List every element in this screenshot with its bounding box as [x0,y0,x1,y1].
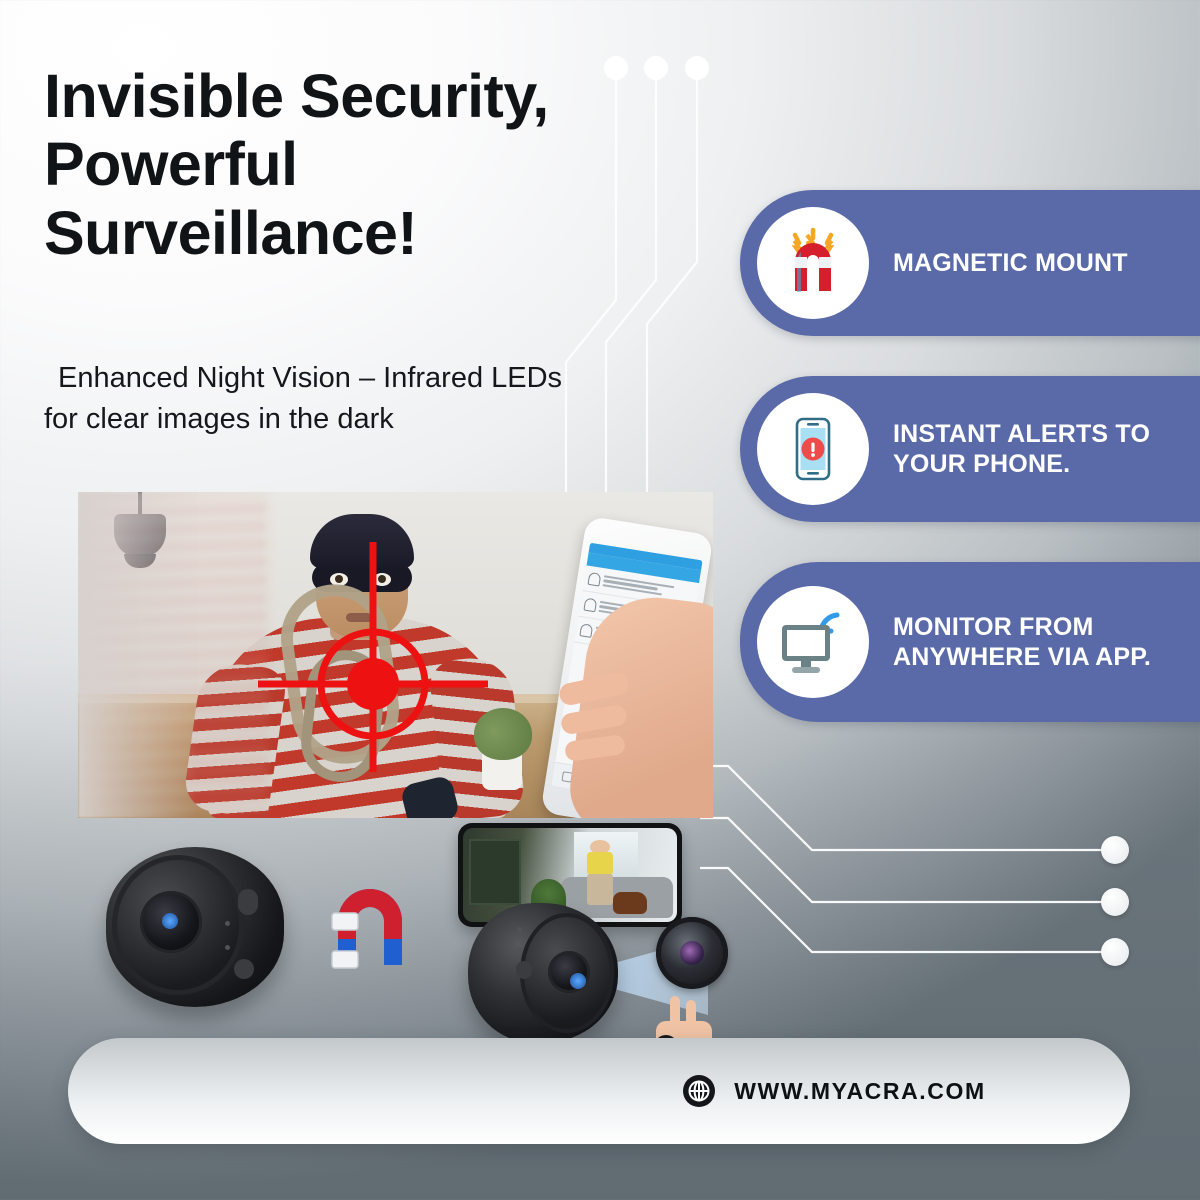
subheadline-line-2: for clear images in the dark [44,399,744,440]
camera-mode-button [238,889,258,915]
feed-child-head [590,840,610,854]
mini-spy-camera-front-view [106,847,284,1007]
scene-left-haze [78,492,198,818]
bell-icon [579,623,593,638]
magnet-icon [757,207,869,319]
footer-url-bar: WWW.MYACRA.COM [68,1038,1130,1144]
burglar-surveillance-photo [78,492,713,818]
phone-alert-icon [757,393,869,505]
camera-mode-button [516,961,532,979]
website-url: WWW.MYACRA.COM [734,1078,986,1105]
camera-power-button [234,959,254,979]
camera-indicator-dot [517,927,522,932]
page-subheadline: Enhanced Night Vision – Infrared LEDs fo… [44,358,744,440]
feed-shelf [469,839,520,905]
headline-line-3: Surveillance! [44,199,704,267]
trace-dot-right-3 [1101,938,1129,966]
monitor-wifi-icon [757,586,869,698]
feature-card-instant-alerts[interactable]: INSTANT ALERTS TO YOUR PHONE. [740,376,1200,522]
camera-indicator-dot [517,947,522,952]
camera-indicator-dot [225,921,230,926]
feature-card-list: MAGNETIC MOUNT INSTANT ALERTS TO YOUR PH… [740,190,1200,762]
red-blue-horseshoe-magnet [320,873,430,983]
feature-label-instant-alerts: INSTANT ALERTS TO YOUR PHONE. [893,419,1200,480]
camera-indicator-dot [225,945,230,950]
headline-line-1: Invisible Security, [44,62,704,130]
feature-label-magnetic-mount: MAGNETIC MOUNT [893,248,1144,279]
feature-label-monitor-anywhere: MONITOR FROM ANYWHERE VIA APP. [893,612,1200,673]
feed-child-pants [587,874,613,906]
bell-icon [583,598,597,613]
headline-line-2: Powerful [44,130,704,198]
trace-dot-right-2 [1101,888,1129,916]
product-showcase [70,815,730,1055]
subheadline-line-1: Enhanced Night Vision – Infrared LEDs [44,358,744,399]
camera-lens [140,891,202,953]
feature-card-monitor-anywhere[interactable]: MONITOR FROM ANYWHERE VIA APP. [740,562,1200,722]
page-headline: Invisible Security, Powerful Surveillanc… [44,62,704,267]
feature-card-magnetic-mount[interactable]: MAGNETIC MOUNT [740,190,1200,336]
camera-detail-group [440,825,730,1055]
globe-icon [682,1074,716,1108]
feed-child [587,852,613,905]
feed-child-shirt [587,852,613,874]
red-crosshair-reticle [258,542,488,772]
trace-dot-right-1 [1101,836,1129,864]
bell-icon [587,572,601,587]
mini-spy-camera-angle-view [468,903,618,1043]
camera-lens [548,951,590,993]
